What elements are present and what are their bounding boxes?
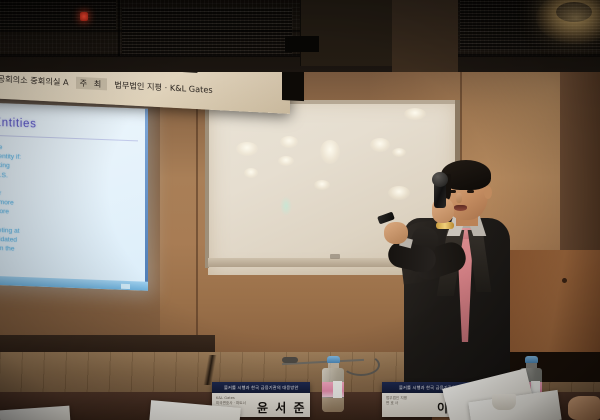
ceiling-beam-secondary: [392, 0, 458, 72]
ceiling-spotlight-icon: [556, 2, 592, 22]
whiteboard-green-reflection: [280, 196, 292, 216]
table-microphone-head-icon: [282, 357, 298, 363]
stage-edge-line: [110, 355, 310, 385]
bottle-liquid: [322, 398, 344, 412]
nameplate-org-line2: 변 호 사: [386, 401, 407, 406]
slide-content: n Banking Entities ng does not apply to …: [0, 100, 148, 291]
screen-right-edge: [145, 109, 148, 291]
microphone-icon: [432, 172, 448, 187]
speaker-figure: [398, 160, 518, 390]
ear: [484, 186, 492, 199]
wood-panel-knob: [562, 278, 567, 283]
table-microphone-arc: [342, 354, 380, 376]
whiteboard-glare-2: [280, 136, 298, 148]
nose: [456, 193, 462, 203]
banner-host-label: 주 최: [76, 77, 108, 91]
eye-right: [467, 190, 474, 193]
whiteboard-glare-10: [404, 108, 426, 120]
whiteboard-glare-7: [244, 168, 258, 178]
red-indicator-light-icon: [80, 12, 88, 21]
nameplate-org: 법무법인 지평 변 호 사: [386, 396, 407, 406]
wristwatch-icon: [436, 222, 454, 229]
bottle-cap: [525, 356, 538, 363]
seminar-photo-scene: n Banking Entities ng does not apply to …: [0, 0, 600, 420]
whiteboard-glare-1: [236, 142, 258, 156]
nameplate-header-text: 볼커룰 시행과 한국 금융기관의 대응방안: [224, 385, 299, 391]
slide-title: n Banking Entities: [0, 114, 138, 134]
whiteboard-glare-5: [370, 138, 390, 152]
whiteboard-glare-3: [278, 156, 294, 166]
banner-venue: 상공회의소 중회의실 A: [0, 73, 69, 87]
bottle-cap: [327, 356, 340, 363]
nameplate-header: 볼커룰 시행과 한국 금융기관의 대응방안: [212, 382, 310, 393]
bottle-body: [322, 368, 344, 412]
hand-holding-clicker: [384, 222, 408, 244]
whiteboard-left-frame: [205, 100, 209, 268]
slide-body: ng does not apply to the s by a foreign …: [0, 140, 138, 258]
whiteboard-glare-6: [392, 148, 406, 157]
whiteboard-magnet: [330, 254, 340, 259]
nameplate-name: 윤 서 준: [257, 399, 306, 416]
ceiling-vent-left: [0, 0, 116, 30]
ceiling-vent-mid: [122, 8, 292, 54]
water-bottle: [322, 356, 344, 412]
paper-cup: [492, 394, 516, 410]
ceiling-seam-2: [118, 0, 120, 56]
slide-divider: [0, 132, 138, 141]
bottle-label-highlight: [333, 381, 342, 398]
screen-bottom-marker: [121, 284, 130, 289]
ceiling-black-fixture: [285, 36, 319, 52]
mouth: [454, 205, 467, 211]
nameplate-org: K&L Gates 미국변호사 · 파트너: [216, 396, 246, 406]
whiteboard-glare-8: [314, 180, 330, 190]
attendee-hand: [568, 396, 600, 420]
whiteboard-glare-4: [320, 140, 340, 164]
projection-screen: n Banking Entities ng does not apply to …: [0, 100, 148, 291]
